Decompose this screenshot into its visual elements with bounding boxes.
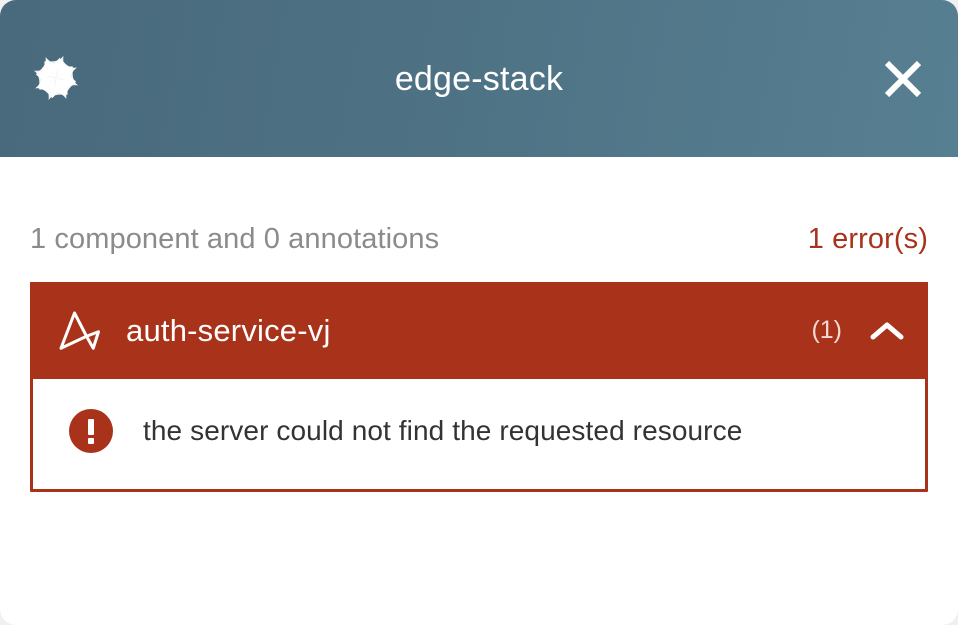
- summary-label: 1 component and 0 annotations: [30, 223, 439, 256]
- component-error-badge: (1): [811, 316, 842, 345]
- dialog-title: edge-stack: [0, 62, 958, 96]
- component-error-list: the server could not find the requested …: [33, 379, 925, 489]
- error-exclamation-icon: [69, 409, 113, 453]
- dialog-content: 1 component and 0 annotations 1 error(s)…: [0, 157, 958, 492]
- component-header[interactable]: auth-service-vj (1): [30, 282, 928, 379]
- error-message-label: the server could not find the requested …: [143, 415, 742, 447]
- summary-row: 1 component and 0 annotations 1 error(s): [30, 157, 928, 256]
- component-collapse-toggle[interactable]: [868, 312, 906, 350]
- error-count-label: 1 error(s): [808, 223, 928, 256]
- dialog-titlebar: edge-stack: [0, 0, 958, 157]
- close-button[interactable]: [880, 56, 926, 102]
- error-row: the server could not find the requested …: [33, 409, 925, 453]
- component-panel: auth-service-vj (1) the server could not…: [30, 282, 928, 492]
- argo-delta-icon: [58, 309, 106, 353]
- component-name-label: auth-service-vj: [126, 313, 811, 349]
- dialog-window: edge-stack 1 component and 0 annotations…: [0, 0, 958, 625]
- chevron-up-icon: [870, 320, 904, 342]
- close-icon: [882, 58, 924, 100]
